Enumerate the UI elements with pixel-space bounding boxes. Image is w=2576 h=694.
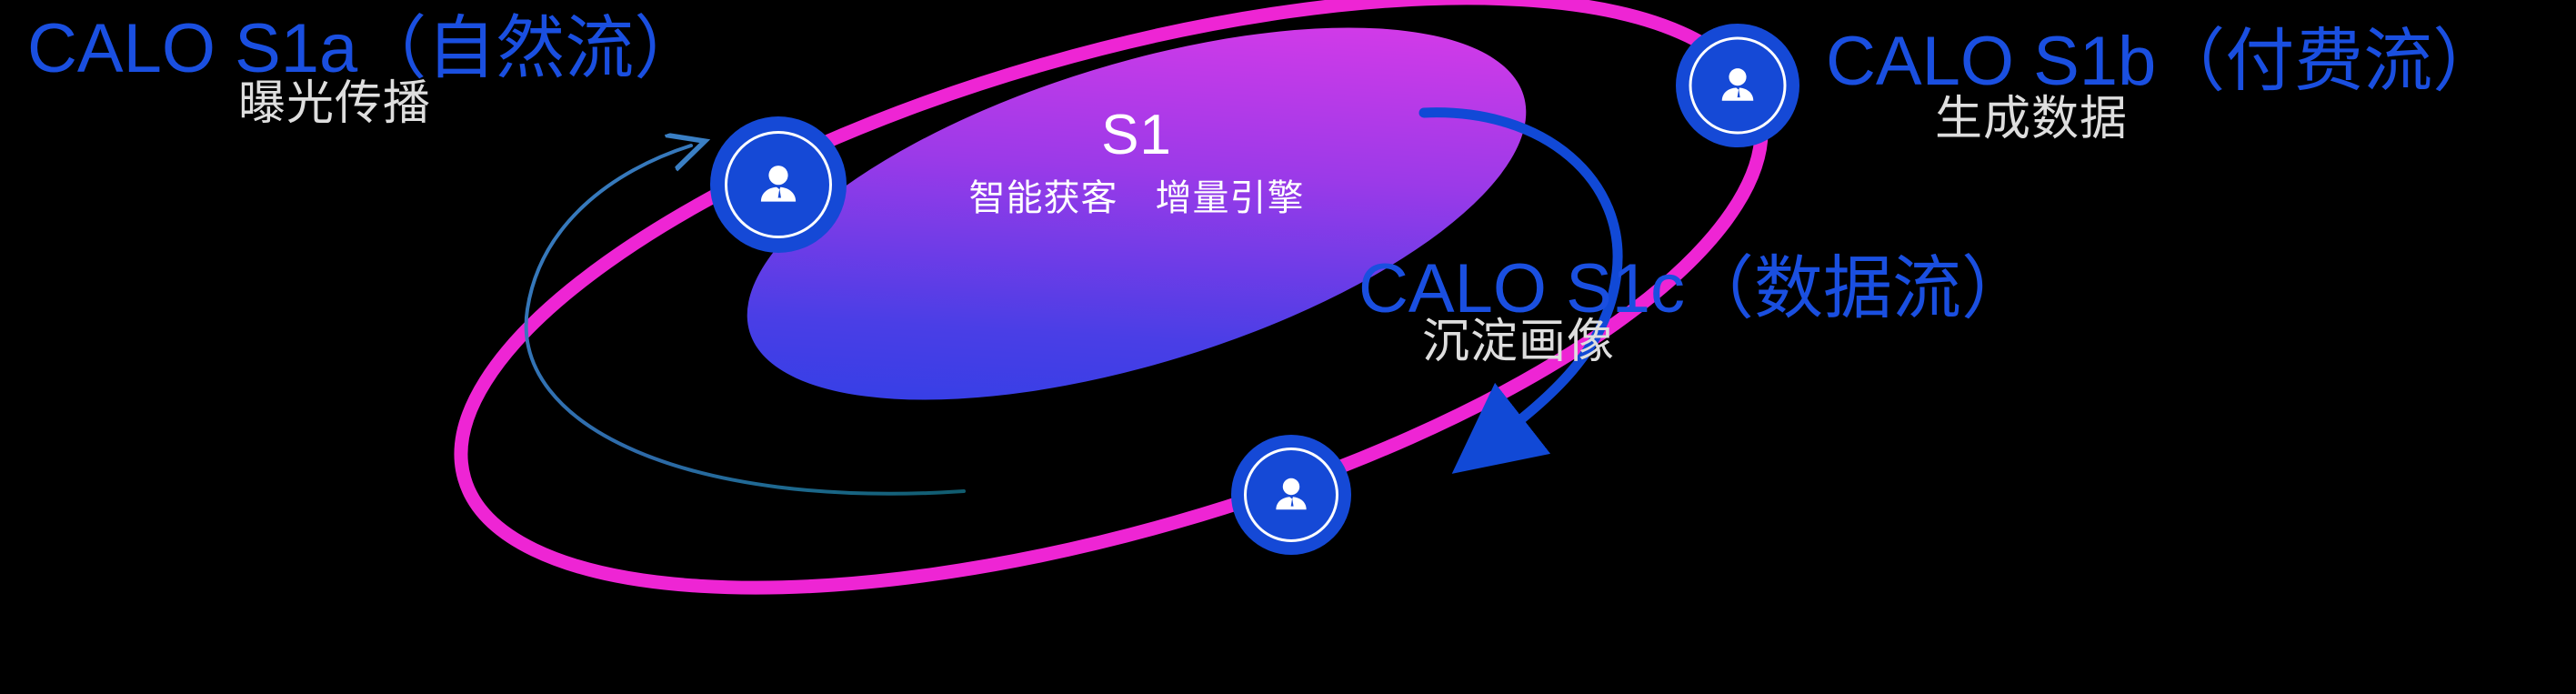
person-icon bbox=[750, 156, 807, 213]
flow-title-s1a: CALO S1a（自然流） bbox=[27, 15, 703, 84]
core-ellipse bbox=[706, 0, 1568, 476]
core-subtitle: 智能获客 增量引擎 bbox=[846, 180, 1428, 216]
person-icon bbox=[1267, 470, 1316, 519]
flow-title-s1c: CALO S1c（数据流） bbox=[1358, 255, 2030, 324]
flow-subtitle-s1a: 曝光传播 bbox=[238, 80, 431, 127]
node-s1a[interactable] bbox=[710, 116, 847, 253]
flow-title-s1b: CALO S1b（付费流） bbox=[1826, 27, 2501, 96]
person-icon bbox=[1712, 60, 1763, 111]
flow-subtitle-s1c: 沉淀画像 bbox=[1422, 318, 1615, 366]
node-s1b[interactable] bbox=[1676, 24, 1799, 147]
core-label-group: S1 智能获客 增量引擎 bbox=[846, 107, 1428, 216]
flow-subtitle-s1b: 生成数据 bbox=[1935, 96, 2128, 143]
diagram-canvas: S1 智能获客 增量引擎 CALO S1a（自然流） 曝光传播 CALO S1b… bbox=[0, 0, 2576, 694]
core-title: S1 bbox=[846, 107, 1428, 164]
node-s1c[interactable] bbox=[1231, 435, 1351, 555]
